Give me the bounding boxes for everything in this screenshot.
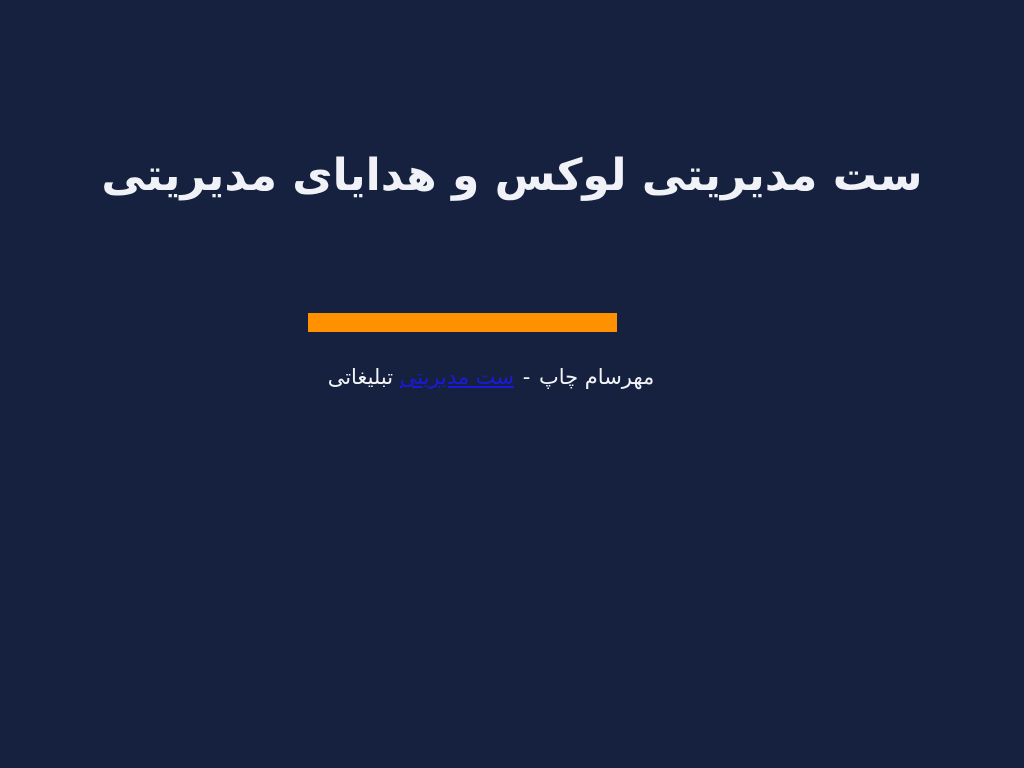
subtitle-lead-text: مهرسام چاپ bbox=[539, 365, 654, 389]
page-title: ست مدیریتی لوکس و هدایای مدیریتی bbox=[0, 150, 1024, 202]
title-slide: ست مدیریتی لوکس و هدایای مدیریتی مهرسام … bbox=[0, 0, 1024, 768]
orange-divider-bar bbox=[308, 313, 617, 332]
subtitle-trail-text: تبلیغاتی bbox=[328, 365, 393, 389]
subtitle-line: مهرسام چاپ - ست مدیریتی تبلیغاتی bbox=[328, 363, 655, 391]
title-block: ست مدیریتی لوکس و هدایای مدیریتی bbox=[0, 150, 1024, 202]
divider-wrap bbox=[308, 313, 617, 332]
subtitle-hyperlink[interactable]: ست مدیریتی bbox=[400, 365, 514, 389]
subtitle-block: مهرسام چاپ - ست مدیریتی تبلیغاتی bbox=[0, 363, 1024, 391]
subtitle-separator: - bbox=[521, 365, 533, 389]
